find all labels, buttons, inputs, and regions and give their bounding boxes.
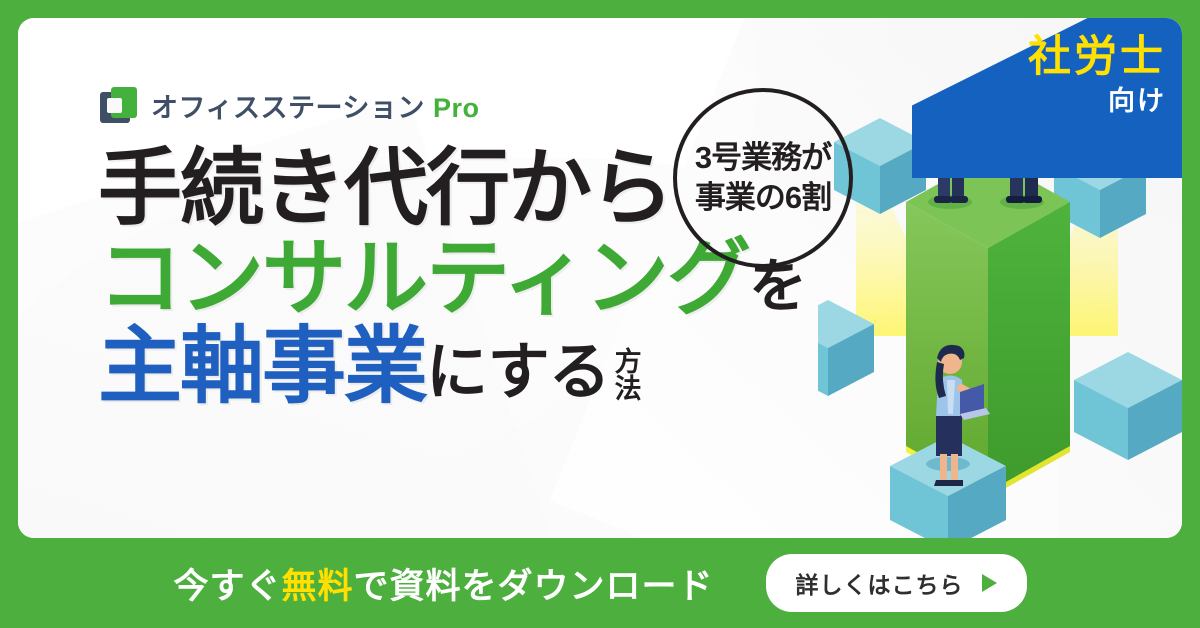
cta-message-before: 今すぐ	[173, 567, 281, 606]
headline-line-2-green: コンサルティング	[98, 236, 749, 320]
cta-message: 今すぐ無料で資料をダウンロード	[173, 558, 713, 609]
headline-line-2: コンサルティング を	[98, 236, 806, 320]
cube-right-lower	[1074, 352, 1182, 460]
cta-message-highlight: 無料	[281, 567, 353, 606]
office-station-logo-icon	[100, 87, 138, 125]
headline-line-3: 主軸事業 にする 方 法	[98, 324, 806, 408]
play-triangle-icon	[982, 574, 997, 592]
headline-vertical-char-2: 法	[615, 376, 642, 404]
promo-banner: オフィスステーション Pro 手続き代行から コンサルティング を 主軸事業 に…	[0, 0, 1200, 628]
cta-message-after: で資料をダウンロード	[354, 567, 714, 606]
brand-edition: Pro	[433, 93, 480, 123]
brand-logo[interactable]: オフィスステーション Pro	[100, 86, 479, 125]
headline-line-3-blue: 主軸事業	[98, 324, 426, 408]
headline-line-3-mid: にする	[426, 342, 610, 408]
stat-badge-line-2: 事業の6割	[695, 178, 831, 218]
brand-name-text: オフィスステーション	[151, 93, 425, 123]
brand-name: オフィスステーション Pro	[151, 86, 479, 125]
headline-line-3-vertical: 方 法	[615, 349, 642, 408]
details-button-label: 詳しくはこちら	[796, 566, 964, 600]
cta-bar: 今すぐ無料で資料をダウンロード 詳しくはこちら	[0, 538, 1200, 628]
stat-badge: 3号業務が 事業の6割	[673, 88, 853, 268]
details-button[interactable]: 詳しくはこちら	[766, 554, 1027, 612]
headline-line-1-text: 手続き代行から	[98, 146, 672, 230]
banner-card: オフィスステーション Pro 手続き代行から コンサルティング を 主軸事業 に…	[18, 18, 1182, 538]
stat-badge-line-1: 3号業務が	[695, 138, 831, 178]
illustration	[818, 36, 1182, 538]
headline-vertical-char-1: 方	[615, 349, 642, 377]
